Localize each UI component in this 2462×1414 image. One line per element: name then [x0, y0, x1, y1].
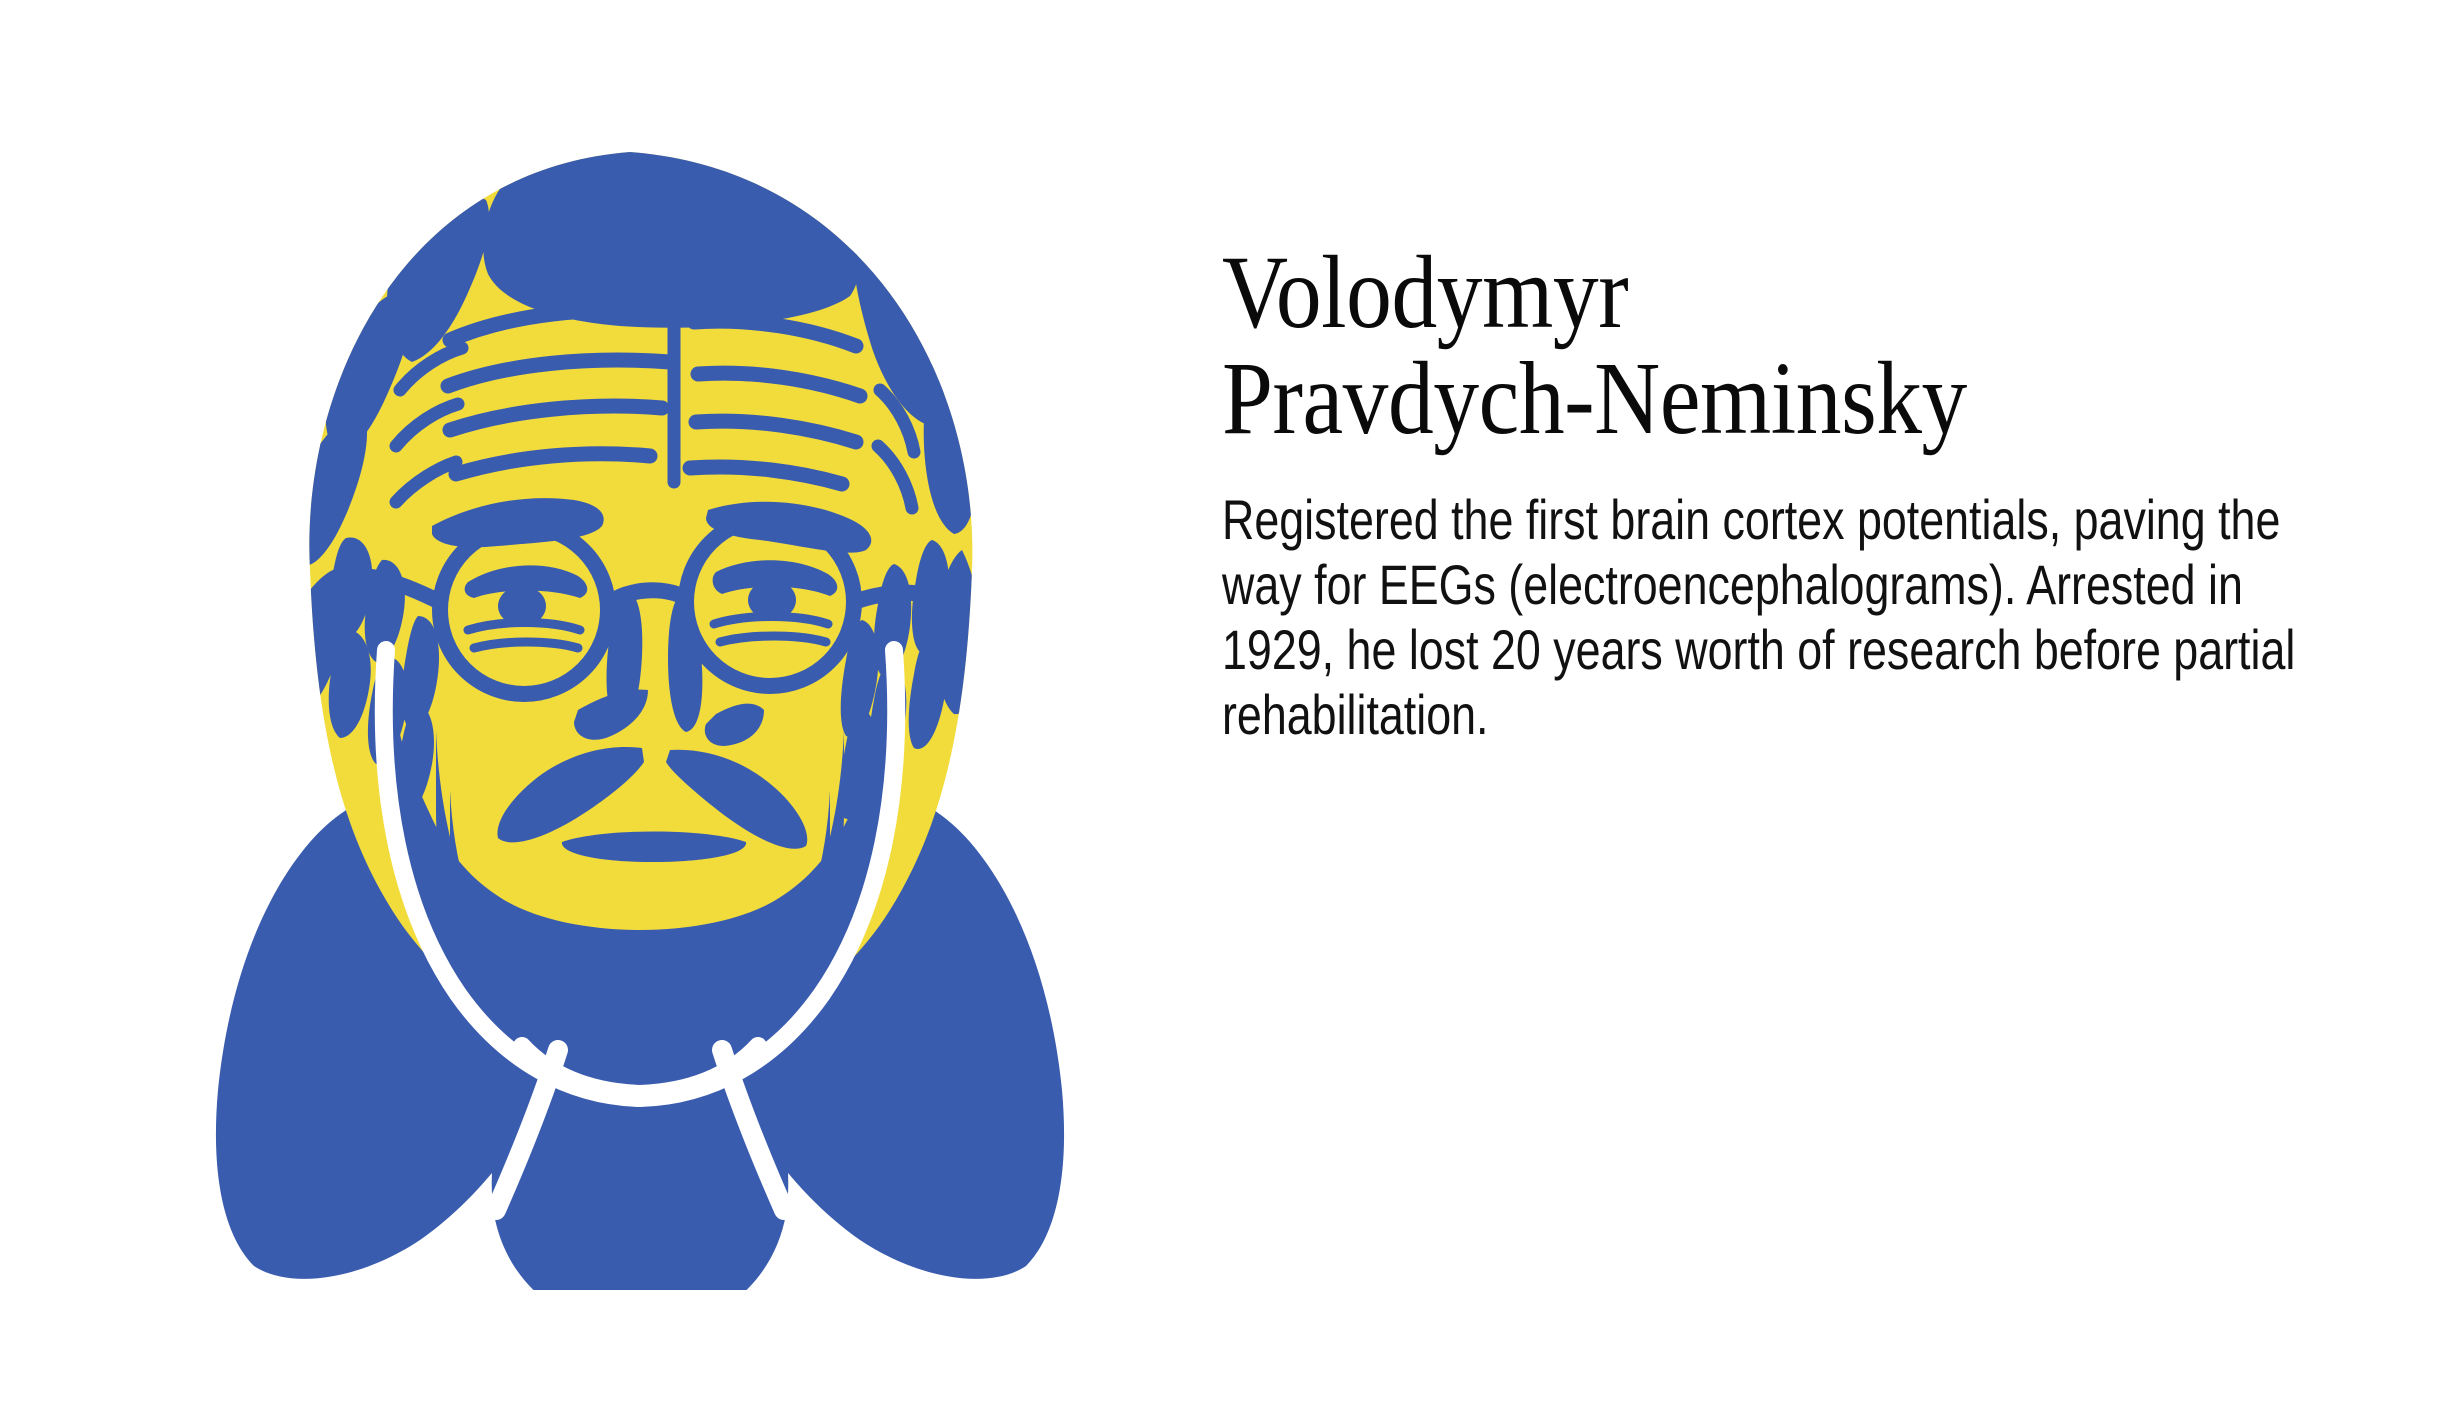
biography-text: Registered the first brain cortex potent…	[1222, 452, 2310, 748]
page-title: Volodymyr Pravdych-Neminsky	[1222, 240, 2190, 452]
portrait-illustration	[150, 90, 1130, 1290]
slide-root: Volodymyr Pravdych-Neminsky Registered t…	[0, 0, 2462, 1414]
right-temple-arm	[854, 593, 930, 602]
portrait-svg	[150, 90, 1130, 1290]
text-panel: Volodymyr Pravdych-Neminsky Registered t…	[1222, 240, 2322, 748]
